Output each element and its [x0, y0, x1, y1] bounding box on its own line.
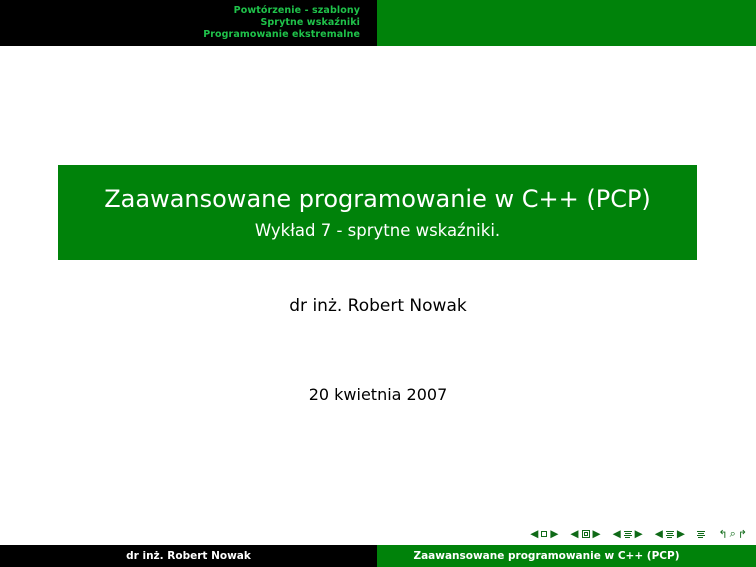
nav-group-frame[interactable]: ◀ ▶	[569, 529, 602, 540]
header-line-3[interactable]: Programowanie ekstremalne	[203, 29, 360, 41]
presentation-date: 20 kwietnia 2007	[0, 385, 756, 404]
prev-slide-triangle-icon[interactable]: ◀	[530, 529, 538, 540]
footer-title: Zaawansowane programowanie w C++ (PCP)	[377, 550, 756, 562]
search-icon[interactable]: ⌕	[730, 527, 736, 541]
next-slide-triangle-icon[interactable]: ▶	[550, 529, 558, 540]
nav-group-document[interactable]	[695, 531, 706, 538]
page-title: Zaawansowane programowanie w C++ (PCP)	[104, 184, 651, 214]
back-arrow-icon[interactable]: ↰	[718, 528, 727, 541]
page-subtitle: Wykład 7 - sprytne wskaźniki.	[255, 220, 500, 242]
forward-arrow-icon[interactable]: ↱	[738, 528, 747, 541]
header-green-panel	[377, 0, 756, 46]
footer-author: dr inż. Robert Nowak	[0, 545, 377, 567]
nav-group-subsection[interactable]: ◀ ▶	[611, 529, 644, 540]
document-lines-icon[interactable]	[697, 531, 705, 538]
next-subsection-triangle-icon[interactable]: ▶	[635, 529, 643, 540]
subsection-lines-icon[interactable]	[624, 531, 632, 538]
slide-footer: dr inż. Robert Nowak Zaawansowane progra…	[0, 545, 756, 567]
header-line-2[interactable]: Sprytne wskaźniki	[260, 17, 360, 29]
section-lines-icon[interactable]	[666, 531, 674, 538]
slide-square-icon[interactable]	[541, 531, 547, 537]
author-name: dr inż. Robert Nowak	[0, 296, 756, 316]
prev-section-triangle-icon[interactable]: ◀	[655, 529, 663, 540]
next-section-triangle-icon[interactable]: ▶	[677, 529, 685, 540]
beamer-navigation-bar[interactable]: ◀ ▶ ◀ ▶ ◀ ▶ ◀ ▶ ↰ ⌕ ↱	[529, 527, 748, 541]
title-block: Zaawansowane programowanie w C++ (PCP) W…	[58, 165, 697, 260]
frame-pages-icon[interactable]	[582, 530, 590, 538]
header-breadcrumb-panel: Powtórzenie - szablony Sprytne wskaźniki…	[0, 0, 377, 46]
prev-subsection-triangle-icon[interactable]: ◀	[613, 529, 621, 540]
footer-title-panel: Zaawansowane programowanie w C++ (PCP)	[377, 545, 756, 567]
nav-group-slide[interactable]: ◀ ▶	[529, 529, 560, 540]
slide-header: Powtórzenie - szablony Sprytne wskaźniki…	[0, 0, 756, 46]
header-line-1[interactable]: Powtórzenie - szablony	[234, 5, 360, 17]
nav-group-section[interactable]: ◀ ▶	[653, 529, 686, 540]
nav-group-actions[interactable]: ↰ ⌕ ↱	[717, 527, 748, 541]
prev-frame-triangle-icon[interactable]: ◀	[570, 529, 578, 540]
next-frame-triangle-icon[interactable]: ▶	[593, 529, 601, 540]
